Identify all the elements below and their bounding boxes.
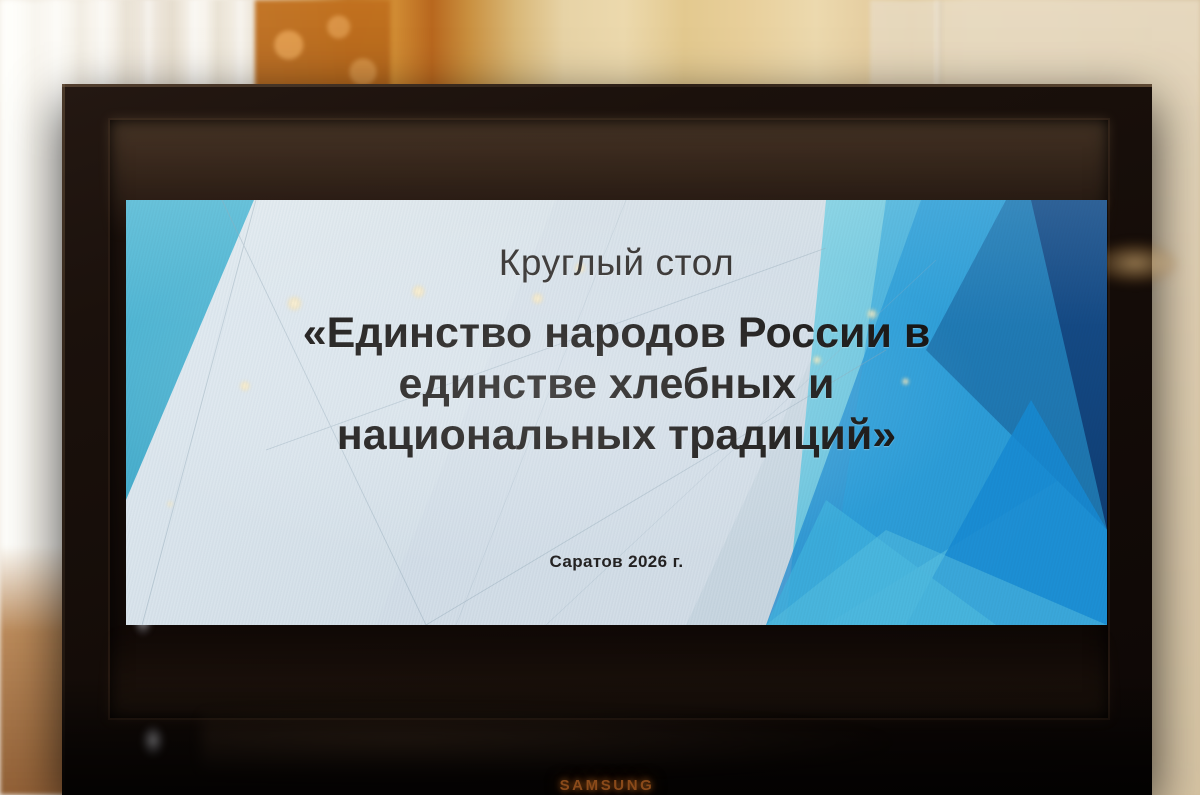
slide-footer: Саратов 2026 г.	[126, 552, 1107, 572]
tv-stand-shadow	[202, 707, 902, 777]
slide-kicker: Круглый стол	[499, 242, 735, 284]
edge-glint	[140, 724, 166, 758]
bezel-top-highlight	[62, 84, 1152, 87]
photo-scene: SAMSUNG	[0, 0, 1200, 795]
samsung-brand-logo: SAMSUNG	[560, 777, 655, 794]
glass-sheen-bottom	[110, 628, 1108, 718]
bezel-left-highlight	[62, 84, 65, 795]
slide-title: «Единство народов России в единстве хлеб…	[267, 308, 967, 461]
presentation-slide: Круглый стол «Единство народов России в …	[126, 200, 1107, 625]
brand-logo-wrap: SAMSUNG	[62, 777, 1152, 795]
slide-text-block: Круглый стол «Единство народов России в …	[126, 200, 1107, 625]
